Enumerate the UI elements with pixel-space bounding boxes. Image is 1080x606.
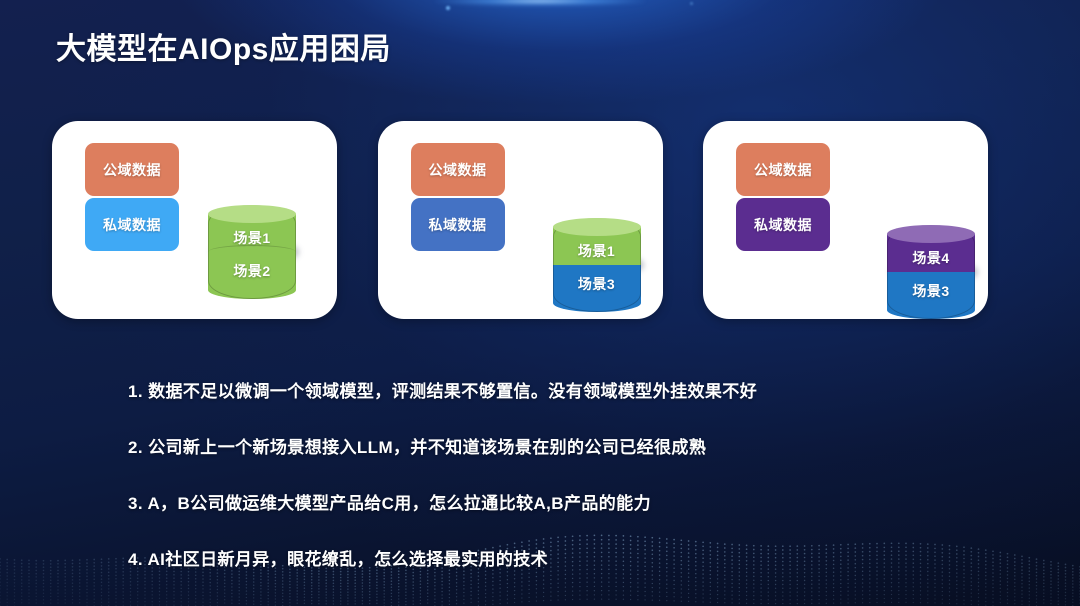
bullet-item-3: 3. A，B公司做运维大模型产品给C用，怎么拉通比较A,B产品的能力 [128,489,1008,514]
card-2-public-data-box[interactable]: 公域数据 [411,143,505,196]
card-1-cylinder-top-cap [208,205,296,223]
glow-dot-right-icon [690,2,693,5]
card-1-cylinder-segment-2-label: 场景2 [233,261,270,281]
cards-row: 公域数据 私域数据 场景1 场景2 公域数据 私域数据 [52,121,988,319]
card-1-cylinder-segment-2: 场景2 [208,252,296,290]
card-1[interactable]: 公域数据 私域数据 场景1 场景2 [52,121,337,319]
card-3-cylinder-top-cap [887,225,975,243]
top-glow-streak [435,0,645,6]
card-1-cylinder[interactable]: 场景1 场景2 [208,205,296,299]
card-2[interactable]: 公域数据 私域数据 场景1 场景3 [378,121,663,319]
card-3-cylinder-segment-2: 场景3 [887,272,975,310]
bullet-item-1: 1. 数据不足以微调一个领域模型，评测结果不够置信。没有领域模型外挂效果不好 [128,377,1008,402]
card-1-data-stack: 公域数据 私域数据 [85,143,179,251]
bullet-item-2: 2. 公司新上一个新场景想接入LLM，并不知道该场景在别的公司已经很成熟 [128,433,1008,458]
card-1-cylinder-segment-1-label: 场景1 [233,228,270,248]
card-1-private-data-box[interactable]: 私域数据 [85,198,179,251]
bullet-list: 1. 数据不足以微调一个领域模型，评测结果不够置信。没有领域模型外挂效果不好 2… [128,377,1008,570]
card-3-cylinder[interactable]: 场景4 场景3 [887,225,975,319]
card-1-public-data-box[interactable]: 公域数据 [85,143,179,196]
card-3-public-data-box[interactable]: 公域数据 [736,143,830,196]
card-3-private-data-box[interactable]: 私域数据 [736,198,830,251]
card-2-cylinder-top-cap [553,218,641,236]
card-2-cylinder-segment-1-label: 场景1 [578,241,615,261]
card-2-data-stack: 公域数据 私域数据 [411,143,505,251]
card-2-cylinder-segment-2-label: 场景3 [578,274,615,294]
card-2-cylinder-segment-2: 场景3 [553,265,641,303]
card-3[interactable]: 公域数据 私域数据 场景4 场景3 [703,121,988,319]
card-3-cylinder-segment-1-label: 场景4 [912,248,949,268]
card-3-data-stack: 公域数据 私域数据 [736,143,830,251]
glow-dot-left-icon [446,6,450,10]
slide-root: 大模型在AIOps应用困局 公域数据 私域数据 场景1 场景2 [0,0,1080,606]
card-2-private-data-box[interactable]: 私域数据 [411,198,505,251]
card-3-cylinder-segment-2-label: 场景3 [912,281,949,301]
bullet-item-4: 4. AI社区日新月异，眼花缭乱，怎么选择最实用的技术 [128,545,1008,570]
page-title: 大模型在AIOps应用困局 [56,24,391,68]
card-2-cylinder[interactable]: 场景1 场景3 [553,218,641,312]
